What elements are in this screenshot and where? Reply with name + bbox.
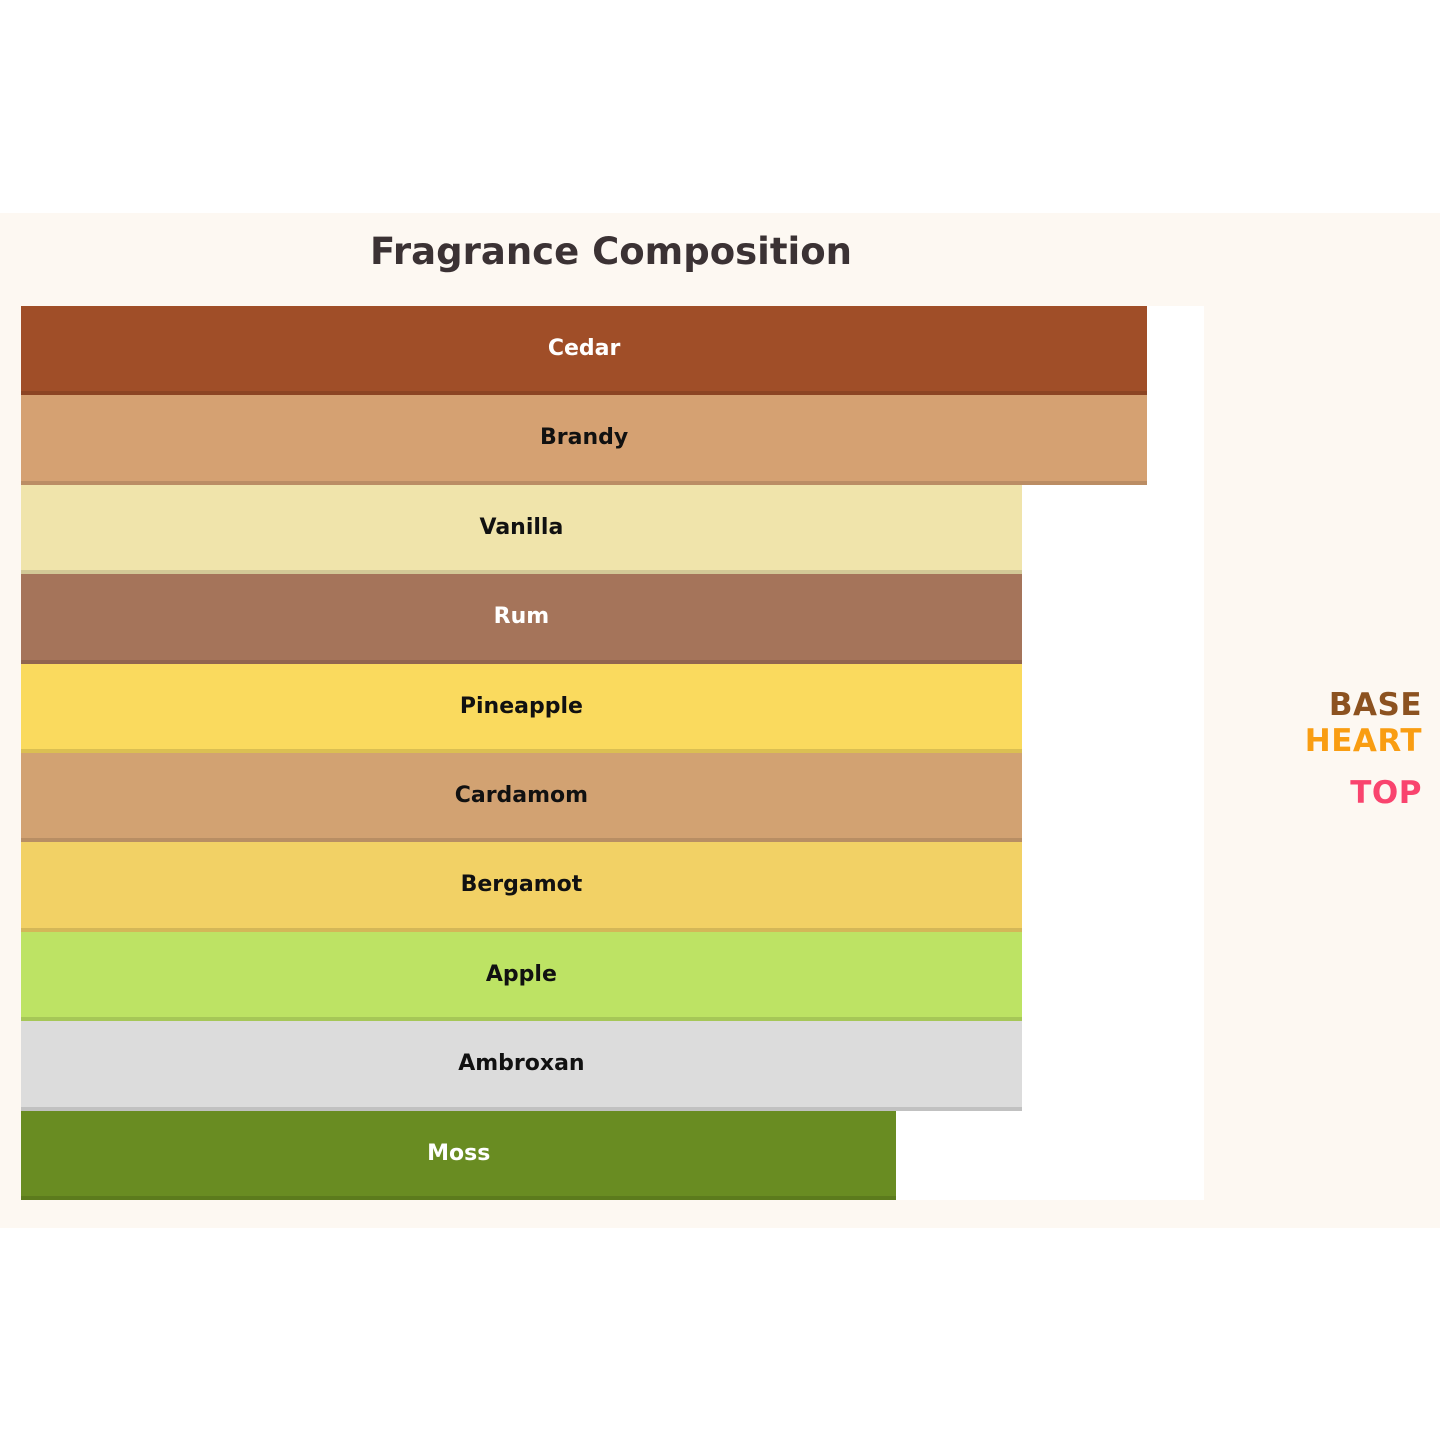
bar-row: Pineapple <box>21 664 1204 753</box>
bar-row: Brandy <box>21 395 1204 484</box>
bar-row: Bergamot <box>21 842 1204 931</box>
bar-row: Moss <box>21 1111 1204 1200</box>
bar-cardamom[interactable] <box>21 753 1022 842</box>
legend-entry-heart[interactable]: HEART <box>1192 723 1422 759</box>
bar-cedar[interactable] <box>21 306 1147 395</box>
bar-pineapple[interactable] <box>21 664 1022 753</box>
legend-entry-base[interactable]: BASE <box>1192 687 1422 723</box>
legend-entry-top[interactable]: TOP <box>1192 775 1422 811</box>
bar-row: Ambroxan <box>21 1021 1204 1110</box>
bar-rum[interactable] <box>21 574 1022 663</box>
bar-row: Apple <box>21 932 1204 1021</box>
bar-row: Vanilla <box>21 485 1204 574</box>
bar-row: Rum <box>21 574 1204 663</box>
bar-moss[interactable] <box>21 1111 896 1200</box>
chart-title: Fragrance Composition <box>0 230 1222 273</box>
bar-bergamot[interactable] <box>21 842 1022 931</box>
bar-row: Cardamom <box>21 753 1204 842</box>
bar-vanilla[interactable] <box>21 485 1022 574</box>
plot-area: CedarBrandyVanillaRumPineappleCardamomBe… <box>21 306 1204 1200</box>
chart-legend: BASEHEARTTOP <box>1192 687 1422 811</box>
bar-brandy[interactable] <box>21 395 1147 484</box>
bar-row: Cedar <box>21 306 1204 395</box>
chart-figure: Fragrance Composition CedarBrandyVanilla… <box>0 213 1440 1228</box>
bar-ambroxan[interactable] <box>21 1021 1022 1110</box>
bar-apple[interactable] <box>21 932 1022 1021</box>
